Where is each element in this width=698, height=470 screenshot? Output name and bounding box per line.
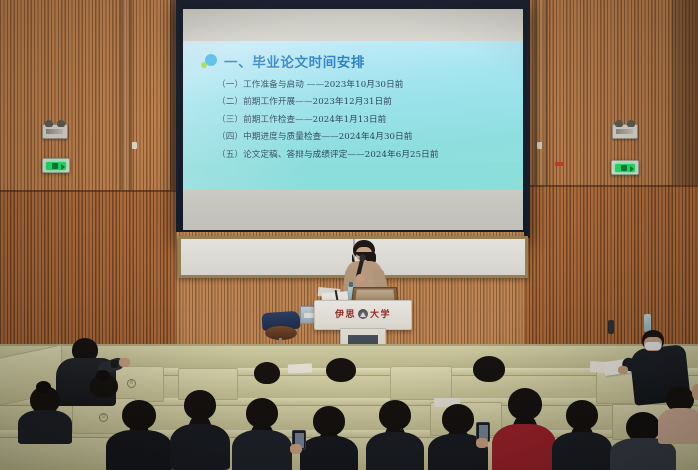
audience-member — [234, 398, 290, 470]
torso — [170, 424, 230, 470]
audience-member — [300, 406, 358, 470]
emergency-light-icon — [42, 124, 68, 139]
torso — [232, 430, 292, 470]
university-logo-icon — [358, 309, 368, 319]
head — [473, 356, 505, 382]
slide-line: （三）前期工作检查——2024年1月13日前 — [217, 112, 515, 129]
emergency-light-icon — [612, 124, 638, 139]
university-name-left: 伊思 — [335, 310, 356, 320]
seat-number: 8 — [127, 379, 136, 388]
screen-bottom-band — [183, 190, 523, 230]
podium-university-name: 伊思大学 — [315, 307, 411, 320]
torso — [492, 424, 556, 470]
audience-member — [468, 356, 512, 390]
left-wall-wainscot — [0, 190, 186, 352]
lecture-hall-photo: 一、毕业论文时间安排 （一）工作准备与启动 ——2023年10月30日前 （二）… — [0, 0, 698, 470]
university-name-right: 大学 — [370, 310, 391, 320]
wristwatch — [111, 360, 118, 368]
torso — [18, 410, 72, 444]
torso — [366, 432, 424, 470]
audience-member — [250, 362, 286, 388]
face-mask — [645, 342, 661, 350]
slide-bullet-list: （一）工作准备与启动 ——2023年10月30日前 （二）前期工作开展——202… — [217, 77, 515, 164]
audience-member — [170, 390, 230, 470]
hand — [476, 438, 488, 448]
torso — [300, 436, 358, 470]
red-wall-marker — [555, 162, 564, 166]
slide-line: （五）论文定稿、答辩与成绩评定——2024年6月25日前 — [217, 147, 515, 164]
audience-member — [492, 388, 556, 470]
audience-member — [18, 386, 72, 442]
audience-member — [366, 400, 424, 470]
hair-bun — [96, 370, 110, 381]
speaker-hand — [356, 274, 364, 282]
torso — [658, 408, 698, 444]
raised-hand — [692, 384, 698, 400]
head — [254, 362, 280, 384]
hand — [290, 444, 302, 454]
hair-bun — [36, 381, 51, 393]
wall-fixture-dot — [132, 142, 137, 149]
audience-member — [86, 374, 126, 404]
wall-fixture-dot — [537, 142, 542, 149]
slide-title: 一、毕业论文时间安排 — [224, 51, 365, 71]
bullet-decoration-icon — [201, 54, 217, 68]
audience-member — [428, 404, 488, 470]
hand — [618, 366, 628, 374]
hand — [119, 358, 130, 367]
screen-top-band — [183, 9, 523, 41]
seat-number: 9 — [99, 413, 108, 422]
presentation-slide: 一、毕业论文时间安排 （一）工作准备与启动 ——2023年10月30日前 （二）… — [183, 41, 523, 190]
audience-member — [322, 358, 362, 388]
podium-front-panel: 伊思大学 — [314, 300, 412, 330]
slide-line: （一）工作准备与启动 ——2023年10月30日前 — [217, 77, 515, 94]
head — [326, 358, 356, 382]
audience-member — [108, 400, 170, 470]
audience-member — [658, 386, 698, 446]
projection-screen: 一、毕业论文时间安排 （一）工作准备与启动 ——2023年10月30日前 （二）… — [176, 0, 530, 238]
exit-sign-icon — [611, 160, 639, 175]
torso — [106, 430, 172, 470]
exit-sign-icon — [42, 158, 70, 173]
seat-panel — [390, 366, 452, 400]
torso — [552, 432, 612, 470]
audience-member — [552, 400, 612, 470]
desk-papers — [288, 363, 312, 373]
slide-line: （四）中期进度与质量检查——2024年4月30日前 — [217, 129, 515, 146]
thermos-icon — [608, 320, 614, 334]
slide-line: （二）前期工作开展——2023年12月31日前 — [217, 94, 515, 111]
slide-title-row: 一、毕业论文时间安排 — [201, 51, 365, 71]
screen-surface: 一、毕业论文时间安排 （一）工作准备与启动 ——2023年10月30日前 （二）… — [183, 9, 523, 230]
